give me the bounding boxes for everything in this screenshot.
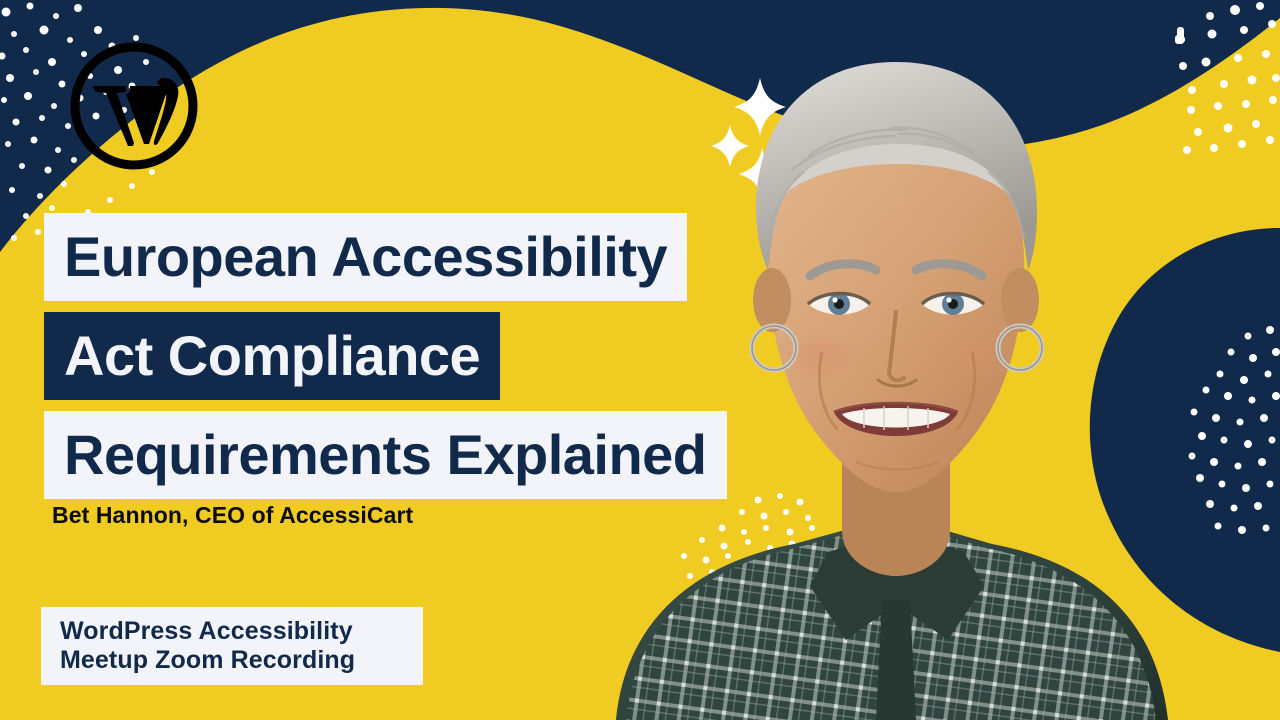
title-line-1: European Accessibility [44,213,687,301]
wordpress-logo [70,42,198,170]
presenter-name: Bet Hannon, CEO of AccessiCart [52,502,413,529]
meetup-badge: WordPress Accessibility Meetup Zoom Reco… [41,607,423,685]
meetup-badge-line-1: WordPress Accessibility [60,617,423,646]
title-line-3: Requirements Explained [44,411,727,499]
thumbnail-canvas: European Accessibility Act Compliance Re… [0,0,1280,720]
title-block: European Accessibility Act Compliance Re… [44,213,727,499]
meetup-badge-line-2: Meetup Zoom Recording [60,646,423,675]
title-line-2: Act Compliance [44,312,500,400]
